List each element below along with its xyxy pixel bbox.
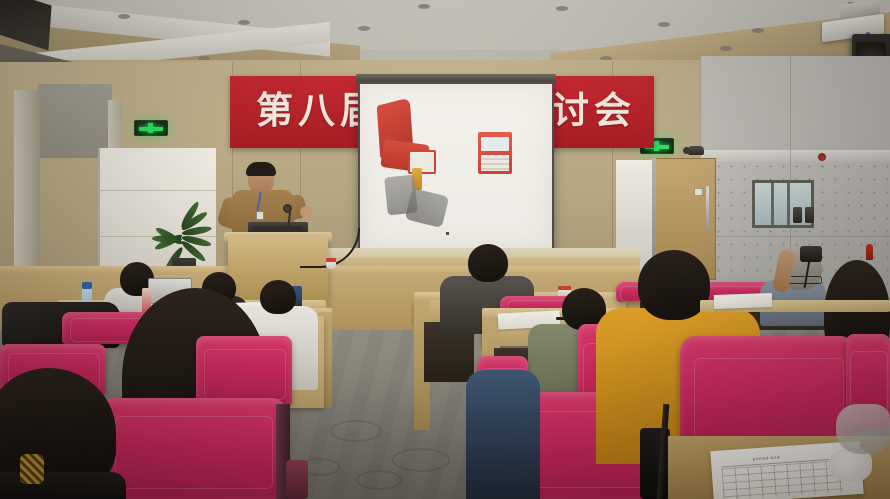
form-title: printed-form bbox=[753, 454, 781, 461]
institution-logo-icon bbox=[818, 153, 826, 161]
projection-screen bbox=[358, 82, 554, 254]
camera[interactable] bbox=[800, 246, 822, 262]
presenter-hair bbox=[246, 162, 276, 176]
slide-marker-dot bbox=[446, 232, 449, 235]
chair-left-mid-2[interactable] bbox=[196, 336, 292, 406]
door-seam bbox=[98, 190, 216, 191]
attendee-torso bbox=[0, 472, 126, 499]
ceiling-downlight bbox=[658, 22, 670, 27]
fire-extinguisher bbox=[866, 244, 873, 260]
ceiling-downlight bbox=[720, 46, 732, 51]
booth-equipment bbox=[793, 207, 802, 223]
presenter-hand bbox=[300, 206, 312, 218]
slide-card-header bbox=[481, 137, 509, 151]
ceiling-downlight bbox=[238, 20, 250, 25]
wall-tile-line bbox=[700, 236, 890, 237]
attendee-jeans bbox=[466, 370, 540, 499]
ceiling-downlight bbox=[418, 4, 430, 9]
exit-sign-left bbox=[134, 120, 168, 136]
ceiling-downlight bbox=[358, 26, 370, 31]
attendee-foreground-bottom-left bbox=[0, 368, 124, 499]
ceiling-downlight bbox=[752, 28, 764, 33]
slide-graphic-card bbox=[478, 132, 512, 174]
wall-grey-panel-left bbox=[38, 84, 112, 158]
carpet-pattern bbox=[330, 420, 382, 442]
ceiling-downlight bbox=[556, 6, 568, 11]
booth-equipment bbox=[805, 207, 814, 223]
hair-accessory bbox=[20, 454, 44, 484]
booth-window-mullion bbox=[771, 183, 774, 225]
plastic-bag bbox=[836, 404, 890, 454]
door-handle[interactable] bbox=[706, 186, 709, 230]
conference-hall-photo: 第八届 研讨会 bbox=[0, 0, 890, 499]
wall-plaque bbox=[818, 152, 862, 162]
bottle-cap bbox=[82, 282, 92, 289]
paper-cup-stage[interactable] bbox=[326, 258, 336, 269]
exit-icon bbox=[139, 123, 163, 133]
presenter-name-badge bbox=[256, 211, 264, 220]
security-camera-icon bbox=[688, 146, 704, 155]
carpet-pattern bbox=[356, 470, 402, 490]
slide-graphic-grey-b bbox=[405, 188, 450, 228]
control-booth-window bbox=[752, 180, 814, 228]
booth-window-mullion bbox=[787, 183, 790, 225]
chair-foreground-left[interactable] bbox=[100, 398, 286, 499]
wall-column-left bbox=[14, 90, 40, 290]
door-notice-sign bbox=[694, 188, 703, 196]
carpet-pattern bbox=[392, 448, 450, 472]
slide-card-body bbox=[481, 155, 509, 171]
chair-armrest-left bbox=[286, 460, 308, 499]
ceiling-downlight bbox=[118, 14, 130, 19]
attendee-head bbox=[468, 244, 508, 282]
attendee-foreground-center bbox=[466, 370, 540, 499]
paper-sheet[interactable] bbox=[714, 293, 772, 309]
